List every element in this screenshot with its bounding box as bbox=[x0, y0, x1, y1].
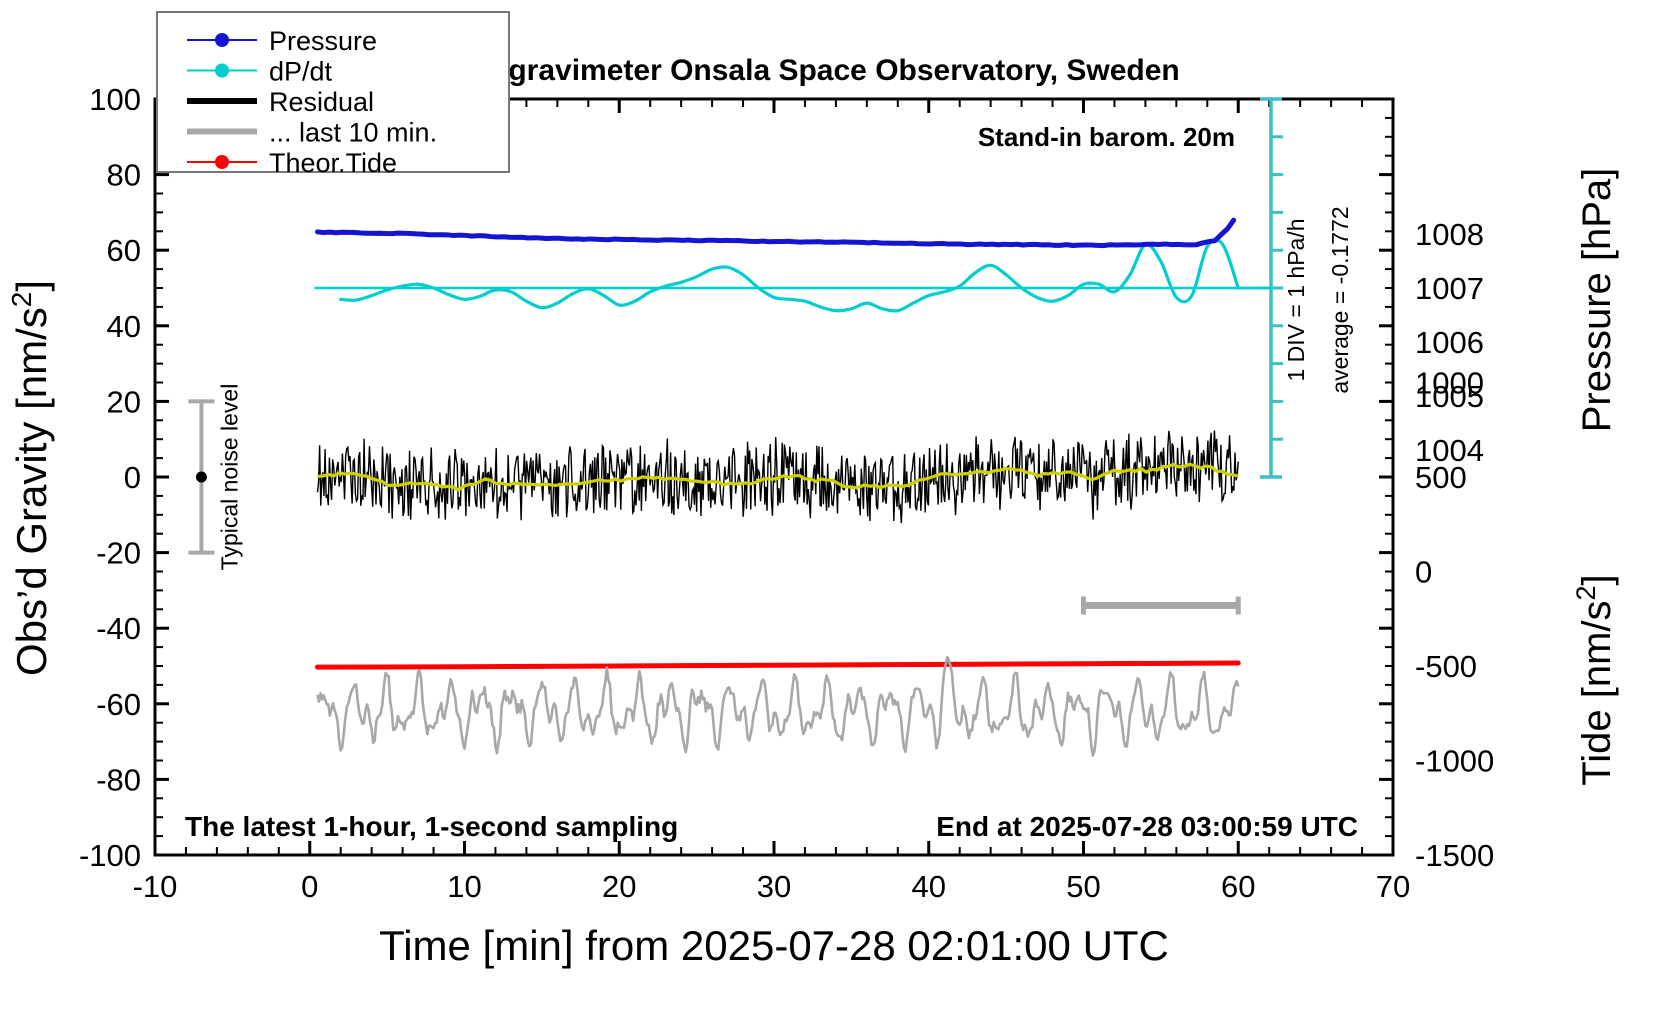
tide-tick-label: 1000 bbox=[1415, 366, 1484, 401]
y-tick-label: 20 bbox=[107, 384, 141, 419]
series-last10min bbox=[317, 657, 1238, 755]
bottom-left-note: The latest 1-hour, 1-second sampling bbox=[185, 811, 678, 842]
gravimeter-chart: -10010203040506070-100-80-60-40-20020406… bbox=[0, 0, 1660, 1020]
y-tick-label: 0 bbox=[124, 460, 141, 495]
x-axis-title: Time [min] from 2025-07-28 02:01:00 UTC bbox=[379, 922, 1169, 969]
tide-tick-label: -1500 bbox=[1415, 838, 1494, 873]
tide-tick-label: 0 bbox=[1415, 555, 1432, 590]
legend-label-1: dP/dt bbox=[269, 57, 333, 87]
legend-marker-1[interactable] bbox=[215, 64, 229, 78]
bottom-right-note: End at 2025-07-28 03:00:59 UTC bbox=[936, 811, 1358, 842]
x-tick-label: 10 bbox=[447, 869, 481, 904]
y-tick-label: -100 bbox=[79, 838, 141, 873]
legend-marker-0[interactable] bbox=[215, 33, 229, 47]
tide-tick-label: 500 bbox=[1415, 460, 1467, 495]
legend-label-2: Residual bbox=[269, 87, 374, 117]
y-tick-label: 100 bbox=[89, 82, 141, 117]
series-theor-tide bbox=[317, 663, 1238, 667]
y-axis-title: Obs’d Gravity [nm/s2] bbox=[6, 280, 56, 676]
series-pressure bbox=[317, 220, 1233, 245]
pressure-tick-label: 1008 bbox=[1415, 217, 1484, 252]
x-tick-label: 50 bbox=[1066, 869, 1100, 904]
legend-label-4: Theor.Tide bbox=[269, 148, 397, 178]
y-tick-label: 40 bbox=[107, 309, 141, 344]
legend-label-0: Pressure bbox=[269, 26, 377, 56]
tide-tick-label: -500 bbox=[1415, 649, 1477, 684]
standin-barom-label: Stand-in barom. 20m bbox=[978, 122, 1235, 152]
noise-level-label: Typical noise level bbox=[216, 384, 242, 571]
y-tick-label: 60 bbox=[107, 233, 141, 268]
y-tick-label: -20 bbox=[96, 536, 141, 571]
y-tick-label: 80 bbox=[107, 158, 141, 193]
x-tick-label: 70 bbox=[1376, 869, 1410, 904]
tide-tick-label: -1000 bbox=[1415, 744, 1494, 779]
series-dpdt bbox=[341, 240, 1239, 311]
average-label: average = -0.1772 bbox=[1327, 206, 1353, 393]
y-tick-label: -40 bbox=[96, 611, 141, 646]
x-tick-label: 60 bbox=[1221, 869, 1255, 904]
pressure-tick-label: 1007 bbox=[1415, 271, 1484, 306]
legend-marker-4[interactable] bbox=[215, 155, 229, 169]
x-tick-label: 0 bbox=[301, 869, 318, 904]
pressure-tick-label: 1006 bbox=[1415, 325, 1484, 360]
legend-label-3: ... last 10 min. bbox=[269, 118, 437, 148]
pressure-axis-title: Pressure [hPa] bbox=[1575, 168, 1619, 433]
x-tick-label: -10 bbox=[133, 869, 178, 904]
scale-div-label: 1 DIV = 1 hPa/h bbox=[1283, 218, 1309, 381]
x-tick-label: 30 bbox=[757, 869, 791, 904]
x-tick-label: 40 bbox=[912, 869, 946, 904]
tide-axis-title: Tide [nm/s2] bbox=[1571, 574, 1619, 785]
y-tick-label: -80 bbox=[96, 762, 141, 797]
y-tick-label: -60 bbox=[96, 687, 141, 722]
chart-page: -10010203040506070-100-80-60-40-20020406… bbox=[0, 0, 1660, 1020]
noise-center-dot bbox=[196, 472, 207, 483]
x-tick-label: 20 bbox=[602, 869, 636, 904]
